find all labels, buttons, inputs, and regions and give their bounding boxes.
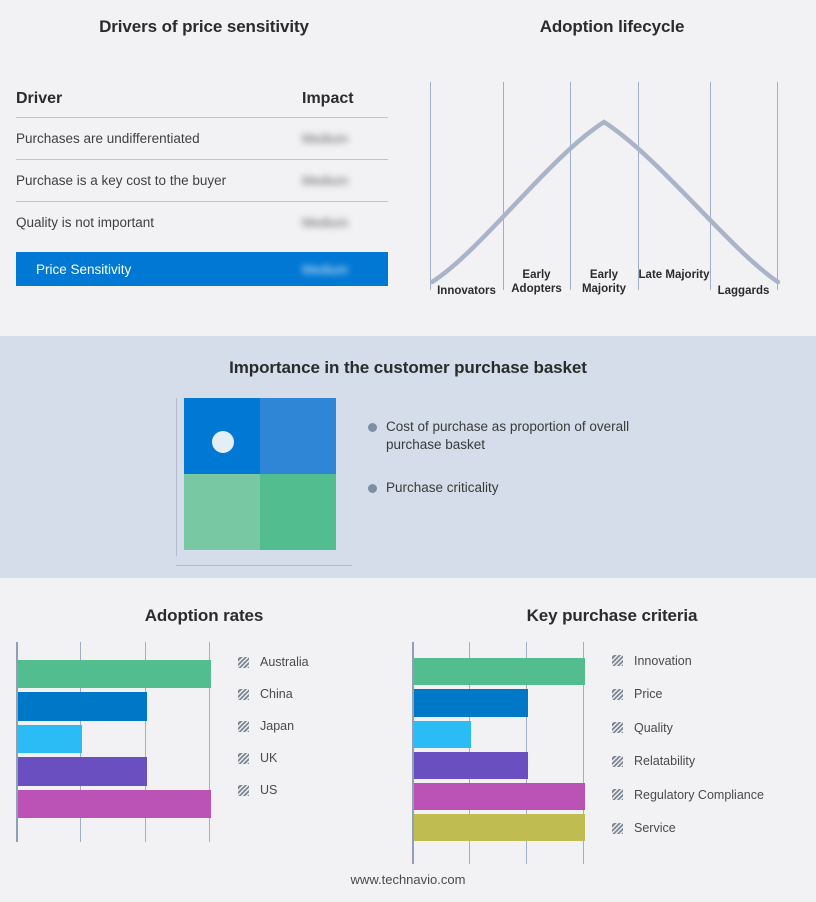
basket-legend: Cost of purchase as proportion of overal… — [368, 418, 668, 522]
summary-label: Price Sensitivity — [36, 262, 131, 277]
legend-item: US — [238, 774, 398, 806]
lifecycle-chart: Innovators Early Adopters Early Majority… — [430, 82, 802, 310]
adoption-rates-title: Adoption rates — [0, 606, 408, 626]
legend-item: Regulatory Compliance — [612, 778, 812, 812]
lifecycle-stage-label: Early Majority — [570, 268, 638, 296]
cell-impact: Medium — [302, 173, 388, 188]
legend-item: Japan — [238, 710, 398, 742]
column-header-impact: Impact — [302, 90, 388, 108]
matrix-axis-horizontal — [176, 565, 352, 566]
key-purchase-criteria-chart — [412, 642, 598, 864]
legend-label: Cost of purchase as proportion of overal… — [386, 418, 648, 454]
drivers-table: Driver Impact Purchases are undifferenti… — [16, 90, 388, 286]
matrix-quadrant-bottom-right — [260, 474, 336, 550]
bar — [414, 658, 585, 685]
legend-item: Innovation — [612, 644, 812, 678]
adoption-lifecycle-panel: Adoption lifecycle Innovators Early Adop… — [408, 0, 816, 336]
matrix-axis-vertical — [176, 398, 177, 556]
legend-label: Relatability — [634, 754, 695, 768]
key-purchase-criteria-title: Key purchase criteria — [408, 606, 816, 626]
legend-swatch-icon — [238, 721, 249, 732]
bar — [18, 790, 211, 819]
cell-driver: Purchases are undifferentiated — [16, 131, 200, 146]
legend-label: Quality — [634, 721, 673, 735]
lifecycle-stage-label: Early Adopters — [503, 268, 570, 296]
purchase-basket-panel: Importance in the customer purchase bask… — [0, 336, 816, 578]
legend-swatch-icon — [238, 785, 249, 796]
legend-label: Service — [634, 821, 676, 835]
matrix-quadrants — [184, 398, 336, 550]
footer-url: www.technavio.com — [0, 872, 816, 887]
lifecycle-stage-label: Laggards — [710, 284, 777, 298]
legend-item: Cost of purchase as proportion of overal… — [368, 418, 668, 454]
legend-swatch-icon — [612, 722, 623, 733]
basket-matrix-chart — [176, 398, 361, 566]
legend-item: China — [238, 678, 398, 710]
legend-label: China — [260, 687, 293, 701]
lifecycle-bell-curve — [430, 82, 802, 290]
legend-item: UK — [238, 742, 398, 774]
bar — [18, 692, 147, 721]
legend-swatch-icon — [238, 753, 249, 764]
bar — [414, 721, 471, 748]
lifecycle-stage-label: Late Majority — [638, 268, 710, 282]
summary-impact: Medium — [302, 262, 388, 277]
legend-label: Innovation — [634, 654, 692, 668]
matrix-quadrant-top-right — [260, 398, 336, 474]
drivers-panel: Drivers of price sensitivity Driver Impa… — [0, 0, 408, 336]
bullet-icon — [368, 484, 377, 493]
legend-item: Quality — [612, 711, 812, 745]
legend-swatch-icon — [612, 823, 623, 834]
lifecycle-labels: Innovators Early Adopters Early Majority… — [430, 265, 802, 305]
cell-driver: Quality is not important — [16, 215, 154, 230]
matrix-position-marker — [212, 431, 234, 453]
cell-impact: Medium — [302, 131, 388, 146]
legend-item: Purchase criticality — [368, 479, 668, 497]
legend-item: Relatability — [612, 745, 812, 779]
drivers-title: Drivers of price sensitivity — [0, 17, 408, 37]
column-header-driver: Driver — [16, 90, 62, 108]
cell-impact: Medium — [302, 215, 388, 230]
table-row: Purchases are undifferentiated Medium — [16, 118, 388, 159]
adoption-rates-panel: Adoption rates AustraliaChinaJapanUKUS — [0, 578, 408, 902]
price-sensitivity-summary-row: Price Sensitivity Medium — [16, 252, 388, 286]
legend-swatch-icon — [612, 789, 623, 800]
table-row: Purchase is a key cost to the buyer Medi… — [16, 160, 388, 201]
bar — [18, 660, 211, 689]
legend-label: Purchase criticality — [386, 479, 499, 497]
bar — [414, 814, 585, 841]
key-purchase-criteria-legend: InnovationPriceQualityRelatabilityRegula… — [612, 644, 812, 845]
legend-label: UK — [260, 751, 277, 765]
table-header-row: Driver Impact — [16, 90, 388, 117]
adoption-rates-chart — [16, 642, 226, 842]
cell-driver: Purchase is a key cost to the buyer — [16, 173, 226, 188]
key-purchase-criteria-panel: Key purchase criteria InnovationPriceQua… — [408, 578, 816, 902]
matrix-quadrant-bottom-left — [184, 474, 260, 550]
bar — [414, 689, 528, 716]
bar — [18, 725, 82, 754]
legend-label: Japan — [260, 719, 294, 733]
legend-item: Price — [612, 678, 812, 712]
legend-label: US — [260, 783, 277, 797]
legend-swatch-icon — [238, 657, 249, 668]
legend-label: Price — [634, 687, 662, 701]
legend-item: Australia — [238, 646, 398, 678]
basket-title: Importance in the customer purchase bask… — [0, 358, 816, 378]
legend-swatch-icon — [612, 756, 623, 767]
legend-swatch-icon — [238, 689, 249, 700]
legend-swatch-icon — [612, 689, 623, 700]
lifecycle-title: Adoption lifecycle — [408, 17, 816, 37]
lifecycle-stage-label: Innovators — [430, 284, 503, 298]
legend-label: Australia — [260, 655, 309, 669]
bullet-icon — [368, 423, 377, 432]
bar — [18, 757, 147, 786]
bar — [414, 783, 585, 810]
adoption-rates-legend: AustraliaChinaJapanUKUS — [238, 646, 398, 806]
legend-item: Service — [612, 812, 812, 846]
legend-swatch-icon — [612, 655, 623, 666]
table-row: Quality is not important Medium — [16, 202, 388, 243]
legend-label: Regulatory Compliance — [634, 788, 764, 802]
bar — [414, 752, 528, 779]
